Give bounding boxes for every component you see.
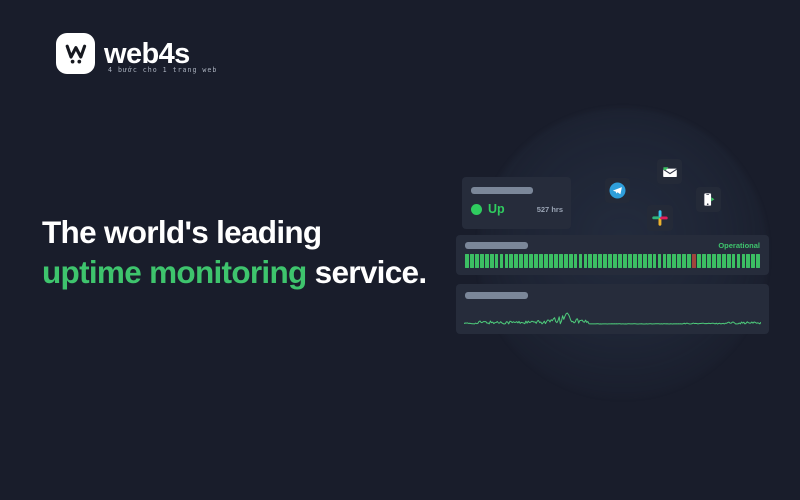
uptime-segment[interactable] <box>465 254 469 268</box>
uptime-segment[interactable] <box>692 254 696 268</box>
headline-line-1: The world's leading <box>42 212 442 252</box>
response-chart-card[interactable] <box>456 284 769 334</box>
status-duration: 527 hrs <box>537 205 563 214</box>
uptime-segment[interactable] <box>628 254 632 268</box>
status-dot-icon <box>471 204 482 215</box>
uptime-segment[interactable] <box>579 254 583 268</box>
uptime-segment[interactable] <box>500 254 504 268</box>
uptime-segment[interactable] <box>564 254 568 268</box>
uptime-segment[interactable] <box>732 254 736 268</box>
headline-suffix: service. <box>307 254 427 290</box>
w-logo-icon <box>56 33 95 74</box>
uptime-segment[interactable] <box>623 254 627 268</box>
uptime-segment[interactable] <box>663 254 667 268</box>
uptime-segment[interactable] <box>756 254 760 268</box>
uptime-segment[interactable] <box>697 254 701 268</box>
uptime-segment[interactable] <box>667 254 671 268</box>
uptime-segment[interactable] <box>648 254 652 268</box>
uptime-segment[interactable] <box>677 254 681 268</box>
uptime-segment[interactable] <box>643 254 647 268</box>
uptime-bar-track[interactable] <box>465 254 760 268</box>
uptime-segment[interactable] <box>613 254 617 268</box>
headline-accent: uptime monitoring <box>42 254 307 290</box>
email-icon[interactable] <box>657 159 682 184</box>
uptime-segment[interactable] <box>672 254 676 268</box>
brand-name: web4s <box>104 40 190 69</box>
uptime-segment[interactable] <box>638 254 642 268</box>
uptime-segment[interactable] <box>737 254 741 268</box>
status-title-placeholder <box>471 187 533 194</box>
uptime-segment[interactable] <box>746 254 750 268</box>
response-time-sparkline <box>464 303 761 329</box>
uptime-segment[interactable] <box>509 254 513 268</box>
uptime-segment[interactable] <box>658 254 662 268</box>
uptime-segment[interactable] <box>539 254 543 268</box>
uptime-segment[interactable] <box>514 254 518 268</box>
uptime-segment[interactable] <box>742 254 746 268</box>
uptime-segment[interactable] <box>470 254 474 268</box>
uptime-segment[interactable] <box>490 254 494 268</box>
brand-logo[interactable]: web4s 4 bước cho 1 trang web <box>56 33 190 74</box>
uptime-segment[interactable] <box>593 254 597 268</box>
uptime-segment[interactable] <box>475 254 479 268</box>
sms-phone-icon[interactable] <box>696 187 721 212</box>
uptime-segment[interactable] <box>588 254 592 268</box>
uptime-segment[interactable] <box>722 254 726 268</box>
status-badge: Up <box>488 202 505 216</box>
uptime-segment[interactable] <box>505 254 509 268</box>
uptime-segment[interactable] <box>534 254 538 268</box>
headline-line-2: uptime monitoring service. <box>42 252 442 292</box>
uptime-segment[interactable] <box>618 254 622 268</box>
uptime-card[interactable]: Operational <box>456 235 769 275</box>
uptime-segment[interactable] <box>608 254 612 268</box>
uptime-segment[interactable] <box>485 254 489 268</box>
uptime-segment[interactable] <box>702 254 706 268</box>
chart-title-placeholder <box>465 292 528 299</box>
uptime-segment[interactable] <box>687 254 691 268</box>
status-row: Up 527 hrs <box>471 202 563 216</box>
uptime-segment[interactable] <box>751 254 755 268</box>
brand-tagline: 4 bước cho 1 trang web <box>108 66 217 74</box>
uptime-segment[interactable] <box>574 254 578 268</box>
uptime-segment[interactable] <box>653 254 657 268</box>
uptime-segment[interactable] <box>682 254 686 268</box>
uptime-segment[interactable] <box>707 254 711 268</box>
uptime-segment[interactable] <box>712 254 716 268</box>
status-card[interactable]: Up 527 hrs <box>462 177 571 229</box>
uptime-segment[interactable] <box>717 254 721 268</box>
uptime-segment[interactable] <box>544 254 548 268</box>
uptime-segment[interactable] <box>559 254 563 268</box>
uptime-segment[interactable] <box>584 254 588 268</box>
slack-icon[interactable] <box>647 205 673 231</box>
uptime-segment[interactable] <box>549 254 553 268</box>
uptime-segment[interactable] <box>495 254 499 268</box>
uptime-segment[interactable] <box>529 254 533 268</box>
uptime-segment[interactable] <box>519 254 523 268</box>
uptime-title-placeholder <box>465 242 528 249</box>
uptime-segment[interactable] <box>524 254 528 268</box>
page-title: The world's leading uptime monitoring se… <box>42 212 442 293</box>
uptime-segment[interactable] <box>554 254 558 268</box>
uptime-segment[interactable] <box>603 254 607 268</box>
telegram-icon[interactable] <box>605 178 630 203</box>
uptime-segment[interactable] <box>598 254 602 268</box>
hero-banner: web4s 4 bước cho 1 trang web The world's… <box>0 0 800 500</box>
uptime-segment[interactable] <box>480 254 484 268</box>
uptime-segment[interactable] <box>633 254 637 268</box>
uptime-segment[interactable] <box>569 254 573 268</box>
uptime-segment[interactable] <box>727 254 731 268</box>
operational-badge: Operational <box>718 241 760 250</box>
